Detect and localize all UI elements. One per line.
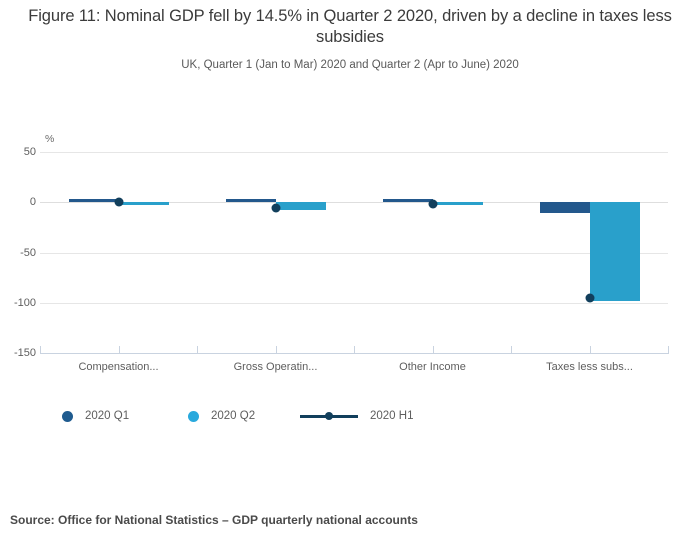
bar-q2-2 <box>433 202 483 205</box>
gridline-50 <box>40 152 668 153</box>
y-axis-tick-label: -50 <box>2 247 36 259</box>
bar-q2-3 <box>590 202 640 300</box>
x-axis-tick <box>433 346 434 354</box>
x-axis-tick <box>668 346 669 354</box>
plot-area: % 500-50-100-150Compensation...Gross Ope… <box>0 0 700 549</box>
legend-line-marker-icon <box>300 411 358 422</box>
x-axis-tick <box>197 346 198 354</box>
x-axis-tick <box>276 346 277 354</box>
legend-dot-icon <box>188 411 199 422</box>
bar-q1-1 <box>226 199 276 202</box>
y-axis-tick-label: 50 <box>2 146 36 158</box>
gridline--50 <box>40 253 668 254</box>
legend-label: 2020 Q1 <box>85 410 129 422</box>
x-axis-tick <box>511 346 512 354</box>
legend-item-1[interactable]: 2020 Q2 <box>188 405 255 427</box>
y-axis-tick-label: 0 <box>2 196 36 208</box>
chart-page: Figure 11: Nominal GDP fell by 14.5% in … <box>0 0 700 549</box>
source-note: Source: Office for National Statistics –… <box>10 513 418 527</box>
x-axis-tick <box>590 346 591 354</box>
bar-q1-2 <box>383 199 433 202</box>
bar-q2-0 <box>119 202 169 205</box>
x-axis-tick <box>40 346 41 354</box>
y-axis-tick-label: -150 <box>2 347 36 359</box>
h1-marker-2 <box>428 200 437 209</box>
legend-label: 2020 H1 <box>370 410 413 422</box>
y-axis-tick-label: -100 <box>2 297 36 309</box>
x-axis-category-label: Gross Operatin... <box>234 361 318 373</box>
legend-item-0[interactable]: 2020 Q1 <box>62 405 129 427</box>
x-axis-category-label: Other Income <box>399 361 466 373</box>
bar-q2-1 <box>276 202 326 210</box>
x-axis-category-label: Compensation... <box>78 361 158 373</box>
h1-marker-0 <box>114 198 123 207</box>
x-axis-tick <box>354 346 355 354</box>
x-axis-category-label: Taxes less subs... <box>546 361 633 373</box>
bar-q1-0 <box>69 199 119 202</box>
gridline--100 <box>40 303 668 304</box>
y-axis-unit-label: % <box>45 133 54 145</box>
chart-legend: 2020 Q12020 Q22020 H1 <box>0 405 700 429</box>
x-axis-tick <box>119 346 120 354</box>
h1-marker-3 <box>585 293 594 302</box>
legend-item-2[interactable]: 2020 H1 <box>300 405 413 427</box>
h1-marker-1 <box>271 204 280 213</box>
bar-q1-3 <box>540 202 590 213</box>
legend-dot-icon <box>62 411 73 422</box>
legend-label: 2020 Q2 <box>211 410 255 422</box>
